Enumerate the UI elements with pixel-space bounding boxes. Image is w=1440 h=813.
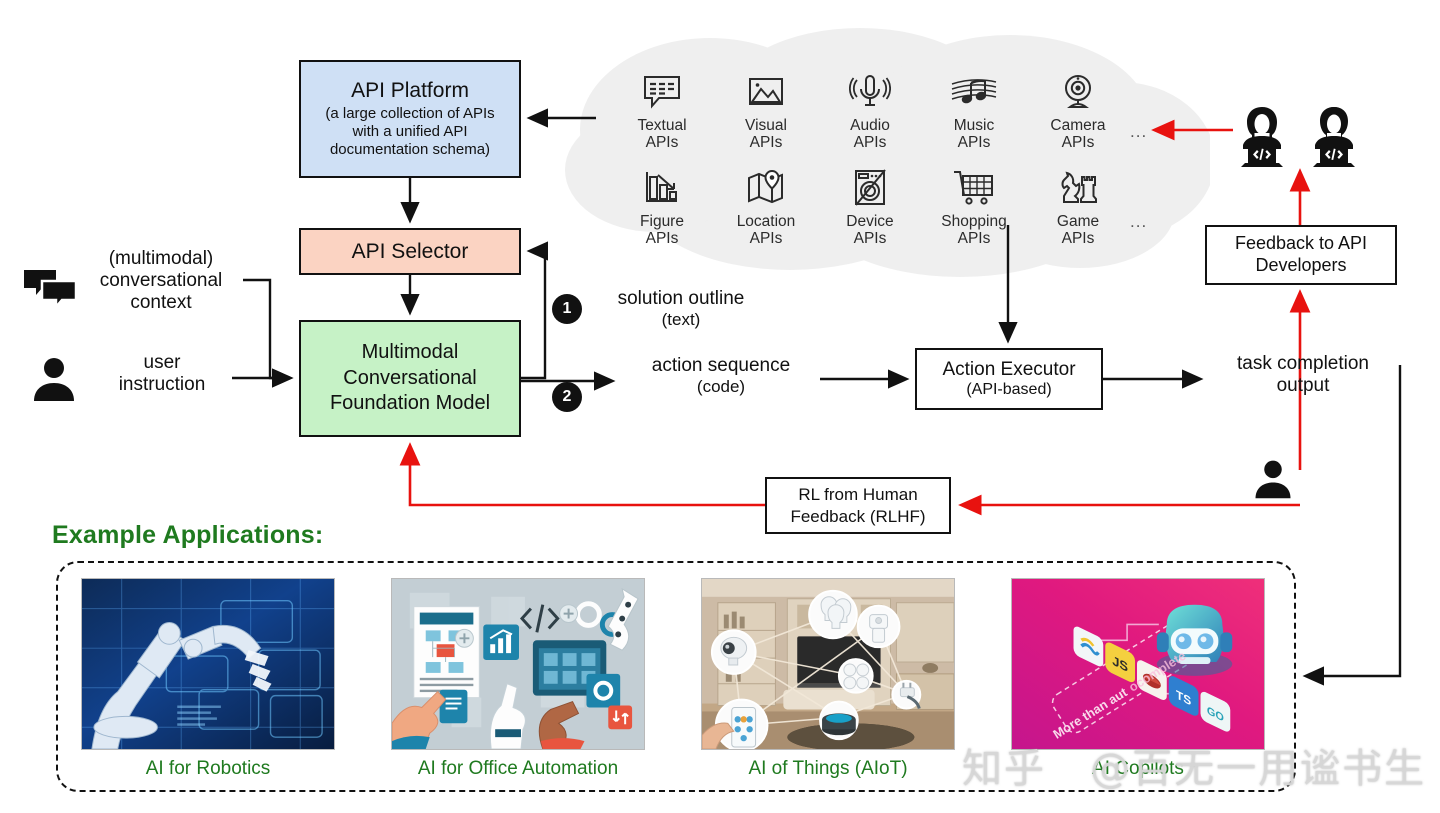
task-completion-output-label: task completion output bbox=[1208, 353, 1398, 397]
feedback-line-2: Developers bbox=[1255, 255, 1346, 277]
api-label-suffix: APIs bbox=[1062, 230, 1095, 247]
api-item-shopping[interactable]: Shopping APIs bbox=[922, 164, 1026, 247]
api-item-visual[interactable]: Visual APIs bbox=[714, 68, 818, 151]
feedback-line-1: Feedback to API bbox=[1235, 233, 1367, 255]
api-label-name: Visual bbox=[745, 117, 787, 134]
conv-context-line-2: conversational bbox=[80, 270, 242, 292]
audio-api-icon bbox=[849, 68, 891, 116]
api-label-suffix: APIs bbox=[958, 230, 991, 247]
api-label-name: Game bbox=[1057, 213, 1099, 230]
end-user-person-icon bbox=[1252, 458, 1294, 505]
user-instruction-line-1: user bbox=[88, 352, 236, 374]
conversational-context-label: (multimodal) conversational context bbox=[80, 248, 242, 314]
api-platform-subtitle-1: (a large collection of APIs bbox=[325, 105, 494, 123]
action-sequence-text: action sequence bbox=[628, 355, 814, 377]
api-selector-box[interactable]: API Selector bbox=[299, 228, 521, 275]
cloud-ellipsis-top: ... bbox=[1130, 122, 1147, 142]
copilot-promo-graphic: JS TS GO bbox=[1011, 578, 1265, 750]
feedback-to-developers-box[interactable]: Feedback to API Developers bbox=[1205, 225, 1397, 285]
office-automation-illustration bbox=[391, 578, 645, 750]
api-label-name: Device bbox=[846, 213, 893, 230]
rlhf-line-2: Feedback (RLHF) bbox=[790, 506, 925, 527]
api-item-figure[interactable]: Figure APIs bbox=[610, 164, 714, 247]
shopping-api-icon bbox=[952, 164, 996, 212]
solution-outline-label: solution outline (text) bbox=[592, 288, 770, 330]
api-label-suffix: APIs bbox=[750, 230, 783, 247]
user-instruction-label: user instruction bbox=[88, 352, 236, 396]
api-item-camera[interactable]: Camera APIs bbox=[1026, 68, 1130, 151]
api-label-name: Textual bbox=[637, 117, 686, 134]
api-label-suffix: APIs bbox=[1062, 134, 1095, 151]
example-app-robotics[interactable]: AI for Robotics bbox=[81, 578, 335, 780]
api-label-name: Camera bbox=[1050, 117, 1105, 134]
developer-female-icon bbox=[1233, 105, 1291, 176]
api-label-name: Figure bbox=[640, 213, 684, 230]
watermark-prefix: 知乎 bbox=[962, 746, 1046, 792]
api-label-name: Music bbox=[954, 117, 994, 134]
camera-api-icon bbox=[1057, 68, 1099, 116]
foundation-model-line-2: Conversational bbox=[343, 366, 476, 392]
foundation-model-box[interactable]: Multimodal Conversational Foundation Mod… bbox=[299, 320, 521, 437]
step-badge-1: 1 bbox=[552, 294, 582, 324]
api-platform-subtitle-3: documentation schema) bbox=[330, 141, 490, 159]
action-executor-box[interactable]: Action Executor (API-based) bbox=[915, 348, 1103, 410]
solution-outline-sub: (text) bbox=[592, 310, 770, 330]
api-label-suffix: APIs bbox=[854, 134, 887, 151]
example-app-caption: AI of Things (AIoT) bbox=[701, 758, 955, 780]
cloud-ellipsis-bottom: ... bbox=[1130, 212, 1147, 232]
game-api-icon bbox=[1056, 164, 1100, 212]
api-label-suffix: APIs bbox=[646, 134, 679, 151]
api-platform-title: API Platform bbox=[351, 79, 469, 103]
rlhf-box[interactable]: RL from Human Feedback (RLHF) bbox=[765, 477, 951, 534]
api-item-audio[interactable]: Audio APIs bbox=[818, 68, 922, 151]
api-label-name: Shopping bbox=[941, 213, 1007, 230]
api-item-location[interactable]: Location APIs bbox=[714, 164, 818, 247]
robotic-arm-photo bbox=[81, 578, 335, 750]
action-sequence-sub: (code) bbox=[628, 377, 814, 397]
example-app-caption: AI for Robotics bbox=[81, 758, 335, 780]
api-label-name: Audio bbox=[850, 117, 890, 134]
api-item-textual[interactable]: Textual APIs bbox=[610, 68, 714, 151]
conv-context-line-1: (multimodal) bbox=[80, 248, 242, 270]
api-icon-grid: Textual APIs Visual APIs bbox=[610, 68, 1130, 247]
foundation-model-line-1: Multimodal bbox=[362, 340, 459, 366]
api-item-device[interactable]: Device APIs bbox=[818, 164, 922, 247]
api-developers-icons bbox=[1233, 105, 1363, 176]
diagram-canvas: Textual APIs Visual APIs bbox=[0, 0, 1440, 813]
step-badge-2: 2 bbox=[552, 382, 582, 412]
developer-male-icon bbox=[1305, 105, 1363, 176]
action-executor-title: Action Executor bbox=[942, 359, 1075, 380]
action-executor-subtitle: (API-based) bbox=[966, 381, 1051, 399]
conv-context-line-3: context bbox=[80, 292, 242, 314]
task-output-line-2: output bbox=[1208, 375, 1398, 397]
user-instruction-line-2: instruction bbox=[88, 374, 236, 396]
example-app-aiot[interactable]: AI of Things (AIoT) bbox=[701, 578, 955, 780]
foundation-model-line-3: Foundation Model bbox=[330, 391, 490, 417]
site-watermark: 知乎 @百无一用谧书生 bbox=[962, 736, 1426, 794]
textual-api-icon bbox=[641, 68, 683, 116]
task-output-line-1: task completion bbox=[1208, 353, 1398, 375]
conversation-bubbles-icon bbox=[22, 268, 80, 315]
figure-api-icon bbox=[641, 164, 683, 212]
visual-api-icon bbox=[745, 68, 787, 116]
rlhf-line-1: RL from Human bbox=[798, 484, 917, 505]
device-api-icon bbox=[849, 164, 891, 212]
api-selector-title: API Selector bbox=[352, 240, 469, 264]
api-item-game[interactable]: Game APIs bbox=[1026, 164, 1130, 247]
example-applications-title: Example Applications: bbox=[52, 521, 323, 550]
api-platform-box[interactable]: API Platform (a large collection of APIs… bbox=[299, 60, 521, 178]
action-sequence-label: action sequence (code) bbox=[628, 355, 814, 397]
api-item-music[interactable]: Music APIs bbox=[922, 68, 1026, 151]
api-label-suffix: APIs bbox=[958, 134, 991, 151]
api-label-suffix: APIs bbox=[854, 230, 887, 247]
watermark-handle: @百无一用谧书生 bbox=[1090, 746, 1426, 792]
location-api-icon bbox=[745, 164, 787, 212]
example-app-caption: AI for Office Automation bbox=[391, 758, 645, 780]
api-label-name: Location bbox=[737, 213, 796, 230]
smart-home-iot-photo bbox=[701, 578, 955, 750]
user-person-icon bbox=[30, 355, 78, 408]
api-label-suffix: APIs bbox=[646, 230, 679, 247]
example-app-office-automation[interactable]: AI for Office Automation bbox=[391, 578, 645, 780]
api-platform-subtitle-2: with a unified API bbox=[352, 123, 467, 141]
solution-outline-text: solution outline bbox=[592, 288, 770, 310]
api-label-suffix: APIs bbox=[750, 134, 783, 151]
music-api-icon bbox=[950, 68, 998, 116]
